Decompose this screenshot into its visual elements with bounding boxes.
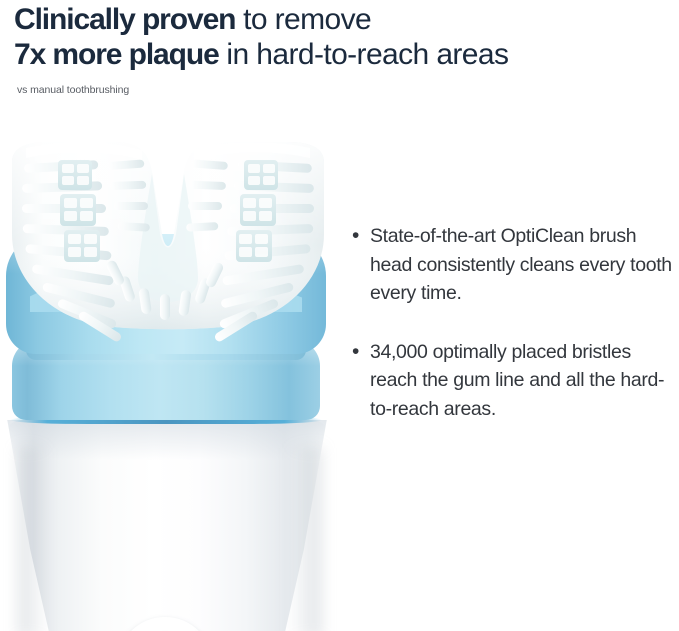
list-item: • State-of-the-art OptiClean brush head … — [352, 222, 679, 308]
list-item: • 34,000 optimally placed bristles reach… — [352, 338, 679, 424]
headline-subtitle: vs manual toothbrushing — [17, 84, 129, 96]
bullet-dot-icon: • — [352, 222, 370, 308]
headline-block: Clinically proven to remove 7x more plaq… — [14, 2, 679, 72]
toothbrush-handle — [4, 420, 330, 631]
bullet-text: State-of-the-art OptiClean brush head co… — [370, 222, 679, 308]
headline-line-2-bold: 7x more plaque — [14, 38, 219, 71]
bullet-text: 34,000 optimally placed bristles reach t… — [370, 338, 679, 424]
bullet-dot-icon: • — [352, 338, 370, 424]
opticlean-brush-head — [2, 138, 334, 343]
headline-line-1: Clinically proven to remove — [14, 2, 679, 37]
handle-shadow-right — [288, 448, 322, 631]
headline-line-2: 7x more plaque in hard-to-reach areas — [14, 37, 679, 72]
headline-line-1-rest: to remove — [235, 3, 371, 36]
headline-line-1-bold: Clinically proven — [14, 3, 235, 36]
product-image — [0, 118, 340, 631]
handle-shadow-left — [18, 448, 48, 631]
headline-line-2-rest: in hard-to-reach areas — [219, 38, 509, 71]
feature-bullet-list: • State-of-the-art OptiClean brush head … — [352, 222, 679, 453]
